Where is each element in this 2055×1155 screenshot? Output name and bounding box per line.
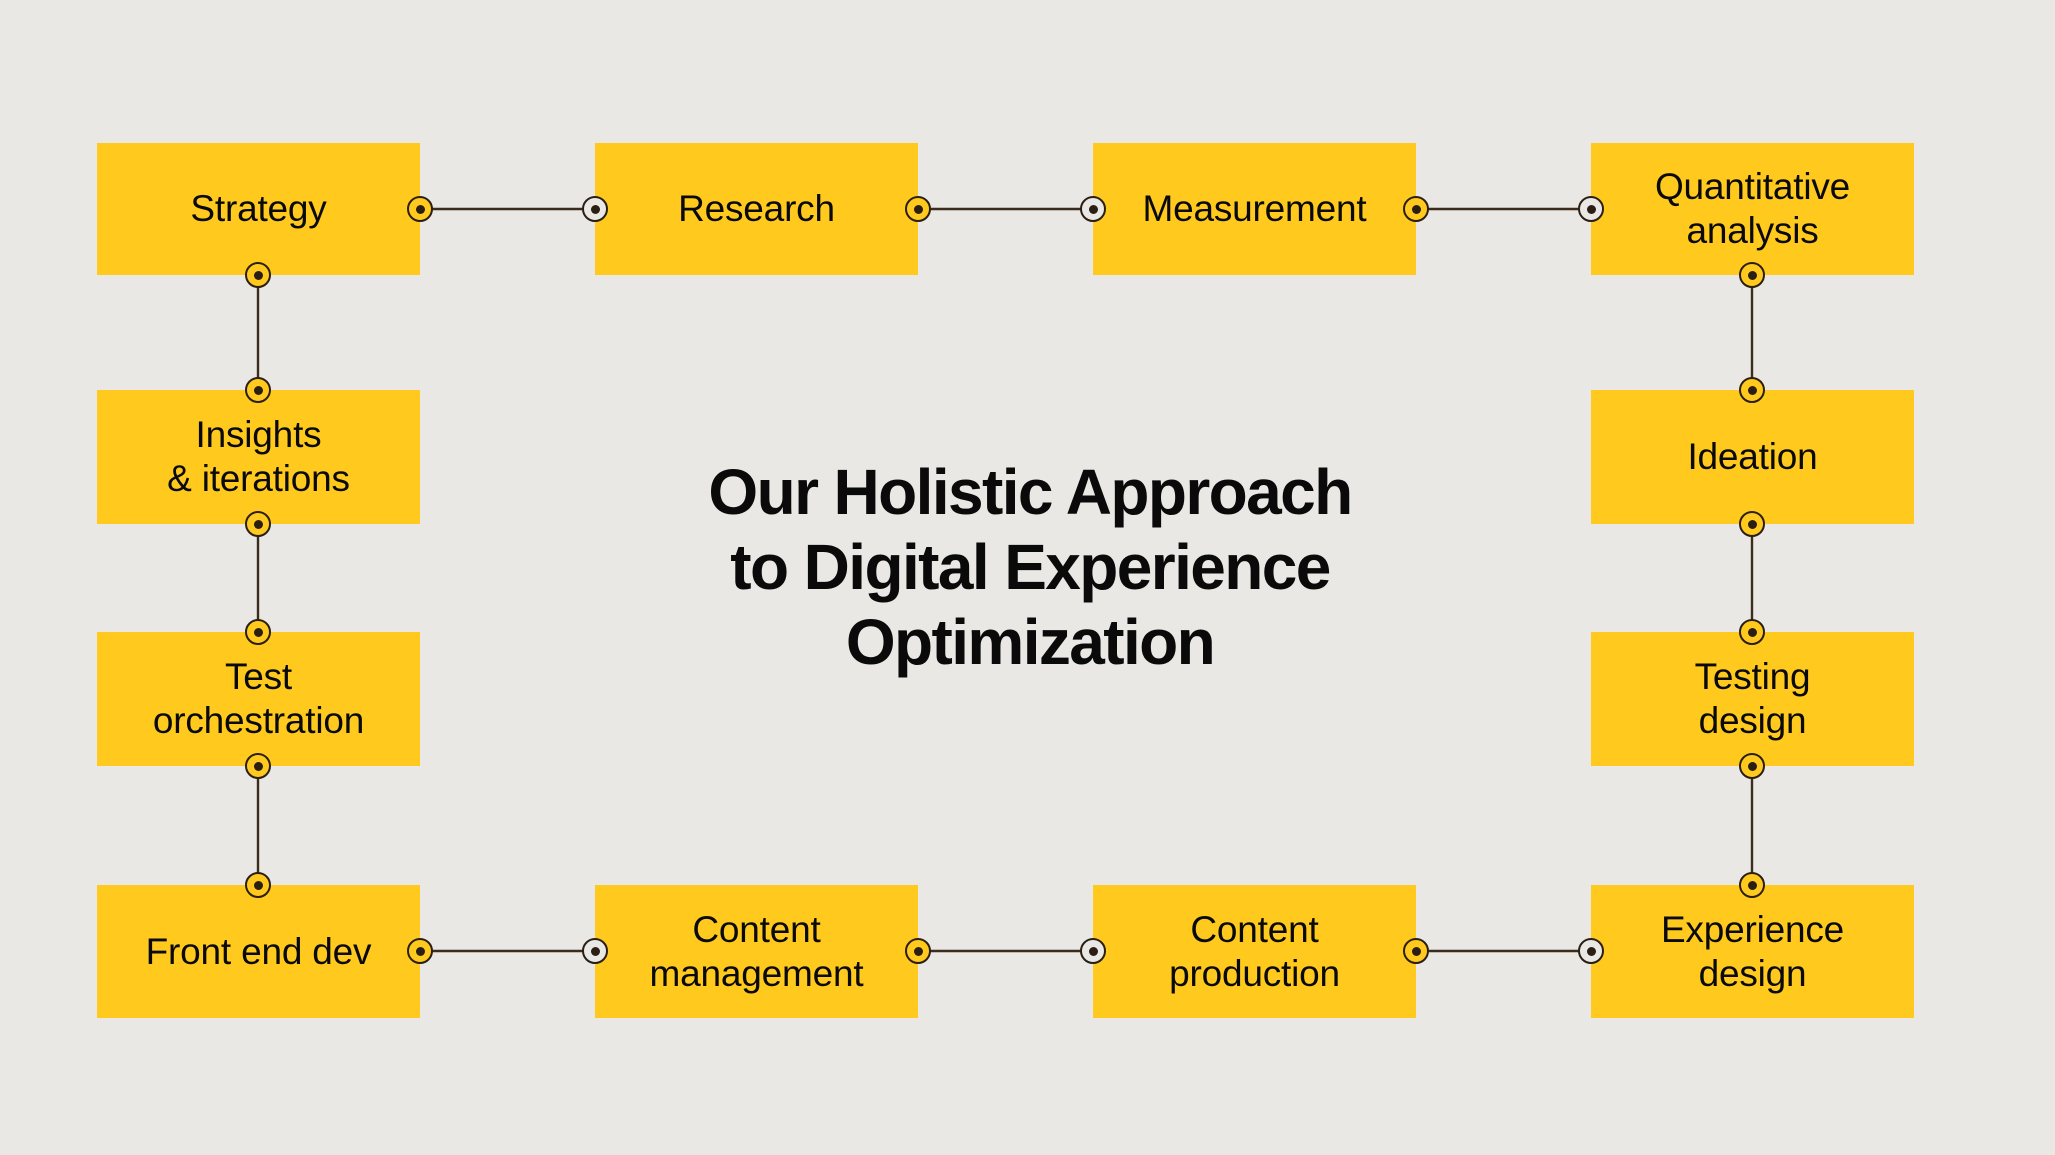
node-label: Quantitative analysis (1655, 165, 1850, 252)
connector-dot-icon (407, 938, 433, 964)
node-measurement[interactable]: Measurement (1093, 143, 1416, 275)
node-content-production[interactable]: Content production (1093, 885, 1416, 1018)
node-testing-design[interactable]: Testing design (1591, 632, 1914, 766)
node-label: Front end dev (146, 930, 372, 974)
connector-dot-icon (905, 938, 931, 964)
connector-dot-icon (245, 377, 271, 403)
node-label: Research (678, 187, 835, 231)
connector-dot-icon (245, 262, 271, 288)
connector-dot-icon (1739, 511, 1765, 537)
node-content-management[interactable]: Content management (595, 885, 918, 1018)
node-label: Strategy (190, 187, 326, 231)
connector-dot-icon (1080, 196, 1106, 222)
node-strategy[interactable]: Strategy (97, 143, 420, 275)
node-experience-design[interactable]: Experience design (1591, 885, 1914, 1018)
node-label: Measurement (1142, 187, 1366, 231)
connector-dot-icon (1403, 938, 1429, 964)
connector-dot-icon (582, 196, 608, 222)
connector-dot-icon (1739, 377, 1765, 403)
node-quantitative-analysis[interactable]: Quantitative analysis (1591, 143, 1914, 275)
connector-dot-icon (1739, 872, 1765, 898)
node-ideation[interactable]: Ideation (1591, 390, 1914, 524)
connector-dot-icon (245, 753, 271, 779)
node-label: Insights & iterations (167, 413, 350, 500)
node-label: Experience design (1661, 908, 1844, 995)
page-title: Our Holistic Approach to Digital Experie… (560, 455, 1500, 680)
node-research[interactable]: Research (595, 143, 918, 275)
connector-dot-icon (1739, 262, 1765, 288)
node-front-end-dev[interactable]: Front end dev (97, 885, 420, 1018)
connector-dot-icon (245, 511, 271, 537)
connector-dot-icon (1080, 938, 1106, 964)
diagram-canvas: Strategy Research Measurement Quantitati… (0, 0, 2055, 1155)
connector-dot-icon (245, 619, 271, 645)
node-label: Content production (1169, 908, 1340, 995)
node-label: Test orchestration (153, 655, 364, 742)
connector-dot-icon (1578, 938, 1604, 964)
connector-dot-icon (1739, 619, 1765, 645)
connector-dot-icon (582, 938, 608, 964)
node-test-orchestration[interactable]: Test orchestration (97, 632, 420, 766)
node-insights-iterations[interactable]: Insights & iterations (97, 390, 420, 524)
connector-dot-icon (1403, 196, 1429, 222)
node-label: Content management (650, 908, 864, 995)
node-label: Testing design (1695, 655, 1811, 742)
connector-dot-icon (1739, 753, 1765, 779)
connector-dot-icon (407, 196, 433, 222)
connector-dot-icon (245, 872, 271, 898)
connector-dot-icon (905, 196, 931, 222)
connector-dot-icon (1578, 196, 1604, 222)
node-label: Ideation (1687, 435, 1817, 479)
